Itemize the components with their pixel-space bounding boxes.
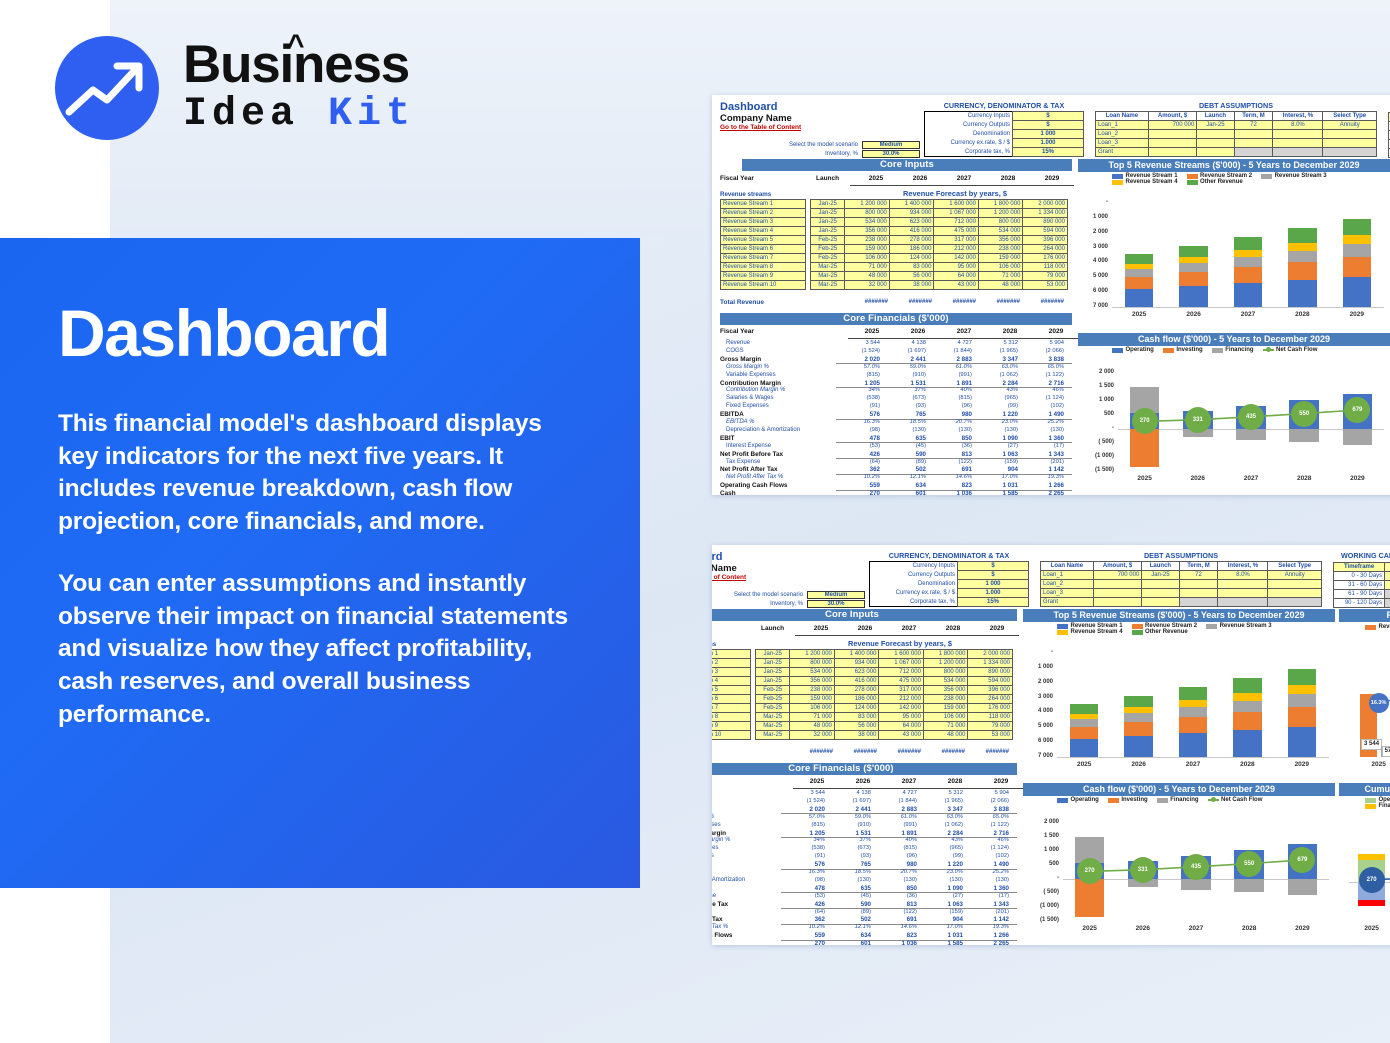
debt-cell[interactable]: Loan_3 (1096, 139, 1149, 148)
stream-value-cell[interactable]: 71 000 (845, 263, 890, 272)
stream-value-cell[interactable]: 278 000 (889, 236, 934, 245)
inventory-label: Inventory, % (770, 601, 803, 607)
stream-value-cell[interactable]: 317 000 (879, 686, 924, 695)
debt-cell[interactable] (1218, 589, 1268, 598)
stream-value-cell[interactable]: 712 000 (934, 218, 979, 227)
stream-value-cell[interactable]: 64 000 (879, 722, 924, 731)
stream-value-cell[interactable]: 48 000 (923, 731, 968, 740)
stream-value-cell[interactable]: 416 000 (889, 227, 934, 236)
stream-value-cell[interactable]: 48 000 (790, 722, 835, 731)
stream-value-cell[interactable]: 118 000 (968, 713, 1013, 722)
stream-value-cell[interactable]: 106 000 (923, 713, 968, 722)
stream-value-cell[interactable]: 71 000 (923, 722, 968, 731)
stream-launch-cell[interactable]: Feb-25 (756, 695, 790, 704)
legend-label: Revenue Stream 4 (1071, 629, 1123, 635)
stream-name-cell[interactable]: Revenue Stream 2 (721, 209, 806, 218)
stream-value-cell[interactable]: 2 000 000 (1023, 200, 1068, 209)
debt-cell[interactable]: Loan_1 (1041, 571, 1094, 580)
stream-value-cell[interactable]: 38 000 (889, 281, 934, 290)
stream-value-cell[interactable]: 1 200 000 (790, 650, 835, 659)
financial-row-value: 65.0% (1022, 364, 1064, 370)
stream-value-cell[interactable]: 356 000 (845, 227, 890, 236)
financial-row-value: 5 904 (1022, 340, 1064, 346)
stream-value-cell[interactable]: 264 000 (968, 695, 1013, 704)
debt-cell[interactable]: 72 (1179, 571, 1218, 580)
debt-cell[interactable] (1234, 139, 1273, 148)
stream-value-cell[interactable]: 475 000 (879, 677, 924, 686)
debt-block: DEBT ASSUMPTIONSLoan NameAmount, $Launch… (1040, 551, 1322, 607)
stream-value-cell[interactable]: 159 000 (923, 704, 968, 713)
table-row: Feb-25238 000278 000317 000356 000396 00… (756, 686, 1013, 695)
debt-cell[interactable]: 700 000 (1093, 571, 1142, 580)
currency-row-value[interactable]: $ (958, 571, 1029, 580)
stream-value-cell[interactable]: 534 000 (923, 677, 968, 686)
legend-item-0: Operating (1112, 347, 1154, 353)
financial-row-value: 559 (783, 932, 825, 939)
revenue-streams-label: Revenue streams (712, 641, 716, 648)
stream-launch-cell[interactable]: Jan-25 (811, 200, 845, 209)
stream-value-cell[interactable]: 106 000 (845, 254, 890, 263)
stream-value-cell[interactable]: 264 000 (1023, 245, 1068, 254)
stream-launch-cell[interactable]: Mar-25 (811, 263, 845, 272)
wc-cell[interactable]: 0% (1385, 590, 1390, 599)
debt-cell[interactable] (1268, 580, 1322, 589)
stream-value-cell[interactable]: 534 000 (845, 218, 890, 227)
bar-revenue-stream-1 (1179, 286, 1207, 307)
financial-row-value: 576 (838, 411, 880, 418)
debt-cell[interactable] (1268, 589, 1322, 598)
debt-cell[interactable]: Annuity (1268, 571, 1322, 580)
bar-revenue-stream-2 (1125, 277, 1153, 289)
financial-row-value: (1 965) (976, 348, 1018, 354)
wc-cell[interactable]: 31 - 60 Days (1334, 581, 1385, 590)
legend-item-2: Financing (1157, 797, 1199, 803)
stream-value-cell[interactable]: 48 000 (978, 281, 1023, 290)
bar-other-revenue (1125, 254, 1153, 264)
dashboard-screenshot-bottom[interactable]: DashboardCompany NameGo to the Table of … (712, 545, 1390, 945)
chart-cash-flow: Cash flow ($'000) - 5 Years to December … (1023, 783, 1335, 941)
stream-value-cell[interactable]: 159 000 (845, 245, 890, 254)
stream-value-cell[interactable]: 623 000 (889, 218, 934, 227)
bar-revenue-stream-3 (1179, 707, 1207, 718)
stream-value-cell[interactable]: 64 000 (934, 272, 979, 281)
currency-row-value[interactable]: 15% (1013, 148, 1084, 157)
currency-row-value[interactable]: 15% (958, 598, 1029, 607)
y-axis-label: ( 500) (1023, 889, 1059, 895)
debt-cell[interactable] (1323, 148, 1377, 157)
debt-cell[interactable]: Grant (1096, 148, 1149, 157)
stream-name-cell[interactable]: Revenue Stream 5 (721, 236, 806, 245)
wc-cell[interactable]: 40% (1385, 581, 1390, 590)
financial-row-value: (98) (838, 427, 880, 433)
financial-row-value: 3 838 (967, 806, 1009, 813)
currency-row-value[interactable]: $ (1013, 112, 1084, 121)
stream-value-cell[interactable]: 142 000 (879, 704, 924, 713)
currency-row-value[interactable]: $ (958, 562, 1029, 571)
financial-row-value: (965) (976, 395, 1018, 401)
legend-label: Investing (1176, 347, 1202, 353)
stream-value-cell[interactable]: 2 000 000 (968, 650, 1013, 659)
stream-launch-cell[interactable]: Jan-25 (756, 668, 790, 677)
stream-value-cell[interactable]: 53 000 (1023, 281, 1068, 290)
stream-value-cell[interactable]: 356 000 (923, 686, 968, 695)
stream-value-cell[interactable]: 396 000 (1023, 236, 1068, 245)
stream-value-cell[interactable]: 396 000 (968, 686, 1013, 695)
stream-value-cell[interactable]: 186 000 (834, 695, 879, 704)
stream-launch-cell[interactable]: Mar-25 (811, 272, 845, 281)
stream-value-cell[interactable]: 534 000 (978, 227, 1023, 236)
stream-name-cell[interactable]: Revenue Stream 4 (712, 677, 751, 686)
stream-value-cell[interactable]: 475 000 (934, 227, 979, 236)
currency-row-value[interactable]: 1 000 (958, 580, 1029, 589)
stream-value-cell[interactable]: 79 000 (1023, 272, 1068, 281)
currency-row-value[interactable]: $ (1013, 121, 1084, 130)
financial-row-value: (815) (875, 845, 917, 851)
table-row: Revenue Stream 5 (712, 686, 751, 695)
financial-row-value: 2 020 (783, 806, 825, 813)
stream-launch-cell[interactable]: Jan-25 (756, 650, 790, 659)
stream-launch-cell[interactable]: Jan-25 (811, 209, 845, 218)
table-row: Revenue Stream 3 (712, 668, 751, 677)
debt-cell[interactable]: Loan_1 (1096, 121, 1149, 130)
stream-value-cell[interactable]: 142 000 (934, 254, 979, 263)
debt-cell[interactable] (1197, 148, 1234, 157)
bar-investing (1075, 879, 1105, 917)
stream-name-cell[interactable]: Revenue Stream 7 (721, 254, 806, 263)
currency-row-label: Corporate tax, % (870, 598, 958, 607)
stream-value-cell[interactable]: 83 000 (834, 713, 879, 722)
legend-swatch (1157, 798, 1168, 803)
financial-row-value: 1 360 (967, 885, 1009, 892)
stream-value-cell[interactable]: 186 000 (889, 245, 934, 254)
stream-value-cell[interactable]: 1 334 000 (1023, 209, 1068, 218)
table-row: Jan-25800 000934 0001 067 0001 200 0001 … (756, 659, 1013, 668)
stream-value-cell[interactable]: 594 000 (968, 677, 1013, 686)
financial-row-value: (1 965) (921, 798, 963, 804)
x-axis-label: 2029 (1335, 311, 1379, 318)
stream-launch-cell[interactable]: Feb-25 (811, 245, 845, 254)
wc-cell[interactable]: 90 - 120 Days (1334, 599, 1385, 608)
debt-cell[interactable]: 8.0% (1218, 571, 1268, 580)
stream-value-cell[interactable]: 800 000 (845, 209, 890, 218)
stream-value-cell[interactable]: 238 000 (923, 695, 968, 704)
financial-row-value: (1 062) (976, 372, 1018, 378)
scenario-value[interactable]: Medium (807, 591, 865, 599)
stream-name-cell[interactable]: Revenue Stream 9 (712, 722, 751, 731)
stream-value-cell[interactable]: 95 000 (934, 263, 979, 272)
debt-cell[interactable] (1197, 130, 1234, 139)
stream-value-cell[interactable]: 212 000 (934, 245, 979, 254)
legend-swatch (1132, 624, 1143, 629)
debt-cell[interactable] (1148, 130, 1197, 139)
currency-row-label: Currency Inputs (925, 112, 1013, 121)
debt-cell[interactable] (1093, 580, 1142, 589)
inventory-value[interactable]: 30.0% (807, 600, 865, 608)
table-of-content-link[interactable]: Go to the Table of Content (720, 124, 920, 131)
legend-item-3: Financing (1365, 803, 1390, 809)
stream-value-cell[interactable]: 48 000 (845, 272, 890, 281)
stream-value-cell[interactable]: 1 200 000 (978, 209, 1023, 218)
stream-launch-cell[interactable]: Feb-25 (811, 236, 845, 245)
debt-cell[interactable] (1234, 148, 1273, 157)
stream-value-cell[interactable]: 159 000 (790, 695, 835, 704)
stream-value-cell[interactable]: 534 000 (790, 668, 835, 677)
stream-value-cell[interactable]: 1 800 000 (923, 650, 968, 659)
stream-value-cell[interactable]: 71 000 (790, 713, 835, 722)
debt-cell[interactable]: 700 000 (1148, 121, 1197, 130)
bar-revenue-stream-3 (1124, 713, 1152, 722)
stream-value-cell[interactable]: 1 200 000 (845, 200, 890, 209)
stream-value-cell[interactable]: 32 000 (790, 731, 835, 740)
stream-value-cell[interactable]: 1 800 000 (978, 200, 1023, 209)
year-rule (795, 635, 1019, 636)
stream-name-cell[interactable]: Revenue Stream 8 (721, 263, 806, 272)
stream-value-cell[interactable]: 623 000 (834, 668, 879, 677)
wc-cell[interactable]: 61 - 90 Days (1334, 590, 1385, 599)
stream-name-cell[interactable]: Revenue Stream 3 (721, 218, 806, 227)
stream-name-cell[interactable]: Revenue Stream 2 (712, 659, 751, 668)
financial-row-value: (130) (829, 877, 871, 883)
stream-value-cell[interactable]: 159 000 (978, 254, 1023, 263)
stream-value-cell[interactable]: 934 000 (834, 659, 879, 668)
stream-value-cell[interactable]: 356 000 (790, 677, 835, 686)
stream-name-cell[interactable]: Revenue Stream 3 (712, 668, 751, 677)
debt-column-header: Interest, % (1273, 112, 1323, 121)
stream-value-cell[interactable]: 212 000 (879, 695, 924, 704)
debt-cell[interactable]: Loan_3 (1041, 589, 1094, 598)
stream-launch-cell[interactable]: Mar-25 (811, 281, 845, 290)
debt-cell[interactable] (1179, 598, 1218, 607)
stream-name-cell[interactable]: Revenue Stream 10 (712, 731, 751, 740)
stream-value-cell[interactable]: 56 000 (889, 272, 934, 281)
stream-value-cell[interactable]: 1 400 000 (834, 650, 879, 659)
scenario-label: Select the model scenario (789, 142, 858, 148)
stream-value-cell[interactable]: 43 000 (934, 281, 979, 290)
debt-cell[interactable] (1179, 589, 1218, 598)
stream-value-cell[interactable]: 594 000 (1023, 227, 1068, 236)
stream-value-cell[interactable]: 43 000 (879, 731, 924, 740)
stream-launch-cell[interactable]: Feb-25 (756, 686, 790, 695)
stream-name-cell[interactable]: Revenue Stream 8 (712, 713, 751, 722)
y-axis-label: 2 000 (1080, 229, 1108, 235)
currency-row-value[interactable]: 1.000 (1013, 139, 1084, 148)
currency-row-value[interactable]: 1 000 (1013, 130, 1084, 139)
wc-cell[interactable]: 0 - 30 Days (1334, 572, 1385, 581)
legend-label: Revenue Stream 3 (1220, 623, 1272, 629)
stream-value-cell[interactable]: 800 000 (978, 218, 1023, 227)
stream-name-cell[interactable]: Revenue Stream 1 (712, 650, 751, 659)
stream-value-cell[interactable]: 176 000 (1023, 254, 1068, 263)
stream-value-cell[interactable]: 118 000 (1023, 263, 1068, 272)
stream-value-cell[interactable]: 317 000 (934, 236, 979, 245)
stream-value-cell[interactable]: 800 000 (923, 668, 968, 677)
financial-row-value: 37% (829, 837, 871, 843)
stream-value-cell[interactable]: 1 600 000 (934, 200, 979, 209)
stream-value-cell[interactable]: 56 000 (834, 722, 879, 731)
stream-name-cell[interactable]: Revenue Stream 7 (712, 704, 751, 713)
stream-name-cell[interactable]: Revenue Stream 5 (712, 686, 751, 695)
stream-value-cell[interactable]: 95 000 (879, 713, 924, 722)
stream-name-cell[interactable]: Revenue Stream 6 (712, 695, 751, 704)
debt-cell[interactable]: 72 (1234, 121, 1273, 130)
stream-value-cell[interactable]: 1 400 000 (889, 200, 934, 209)
financial-row-label: Gross Margin (720, 356, 761, 363)
debt-cell[interactable] (1273, 130, 1323, 139)
stream-name-cell[interactable]: Revenue Stream 9 (721, 272, 806, 281)
year-header-2028: 2028 (933, 625, 973, 632)
debt-cell[interactable] (1093, 598, 1142, 607)
debt-cell[interactable]: Jan-25 (1142, 571, 1179, 580)
stream-value-cell[interactable]: 83 000 (889, 263, 934, 272)
financial-row-value: 5 312 (921, 790, 963, 796)
stream-value-cell[interactable]: 278 000 (834, 686, 879, 695)
debt-cell[interactable] (1234, 130, 1273, 139)
stream-value-cell[interactable]: 712 000 (879, 668, 924, 677)
stream-launch-cell[interactable]: Jan-25 (756, 677, 790, 686)
stream-name-cell[interactable]: Revenue Stream 6 (721, 245, 806, 254)
stream-value-cell[interactable]: 106 000 (978, 263, 1023, 272)
stream-name-cell[interactable]: Revenue Stream 10 (721, 281, 806, 290)
debt-cell[interactable] (1273, 139, 1323, 148)
y-axis-label: - (1078, 425, 1114, 431)
debt-cell[interactable] (1218, 598, 1268, 607)
total-revenue-value: ####### (793, 749, 833, 755)
scenario-value[interactable]: Medium (862, 141, 920, 149)
debt-cell[interactable] (1268, 598, 1322, 607)
stream-value-cell[interactable]: 53 000 (968, 731, 1013, 740)
debt-cell[interactable]: Annuity (1323, 121, 1377, 130)
debt-cell[interactable] (1323, 130, 1377, 139)
year-rule (793, 788, 1023, 789)
chart-revenue-streams: Top 5 Revenue Streams ($'000) - 5 Years … (1078, 159, 1390, 327)
debt-cell[interactable] (1093, 589, 1142, 598)
year-header-2028: 2028 (990, 328, 1030, 335)
stream-value-cell[interactable]: 106 000 (790, 704, 835, 713)
total-revenue-value: ####### (936, 299, 976, 305)
stream-name-cell[interactable]: Revenue Stream 4 (721, 227, 806, 236)
financial-row-value: (815) (930, 395, 972, 401)
inventory-value[interactable]: 30.0% (862, 150, 920, 158)
stream-value-cell[interactable]: 800 000 (790, 659, 835, 668)
stream-value-cell[interactable]: 1 334 000 (968, 659, 1013, 668)
debt-cell[interactable] (1142, 580, 1179, 589)
financial-row-label: Fixed Expenses (726, 403, 769, 409)
stream-launch-cell[interactable]: Feb-25 (811, 254, 845, 263)
debt-table: Loan NameAmount, $LaunchTerm, MInterest,… (1095, 111, 1377, 157)
debt-cell[interactable]: Loan_2 (1041, 580, 1094, 589)
financial-row-value: (815) (783, 822, 825, 828)
debt-cell[interactable]: 8.0% (1273, 121, 1323, 130)
legend-swatch (1365, 798, 1376, 803)
stream-value-cell[interactable]: 890 000 (968, 668, 1013, 677)
stream-launch-cell[interactable]: Mar-25 (756, 731, 790, 740)
debt-cell[interactable] (1323, 139, 1377, 148)
bar-revenue-stream-4 (1234, 250, 1262, 257)
bar-other-revenue (1179, 687, 1207, 700)
legend-swatch (1057, 630, 1068, 635)
stream-launch-cell[interactable]: Feb-25 (756, 704, 790, 713)
bar-revenue-stream-1 (1124, 736, 1152, 757)
financial-row-value: (1 697) (884, 348, 926, 354)
debt-cell[interactable] (1179, 580, 1218, 589)
stream-value-cell[interactable]: 176 000 (968, 704, 1013, 713)
debt-cell[interactable]: Jan-25 (1197, 121, 1234, 130)
financial-row-value: 2 284 (921, 830, 963, 837)
debt-cell[interactable] (1197, 139, 1234, 148)
core-inputs-band: Core Inputs (712, 609, 1017, 621)
stream-value-cell[interactable]: 38 000 (834, 731, 879, 740)
debt-cell[interactable] (1218, 580, 1268, 589)
stream-value-cell[interactable]: 890 000 (1023, 218, 1068, 227)
stream-value-cell[interactable]: 416 000 (834, 677, 879, 686)
financial-row-value: 2 716 (1022, 380, 1064, 387)
debt-cell[interactable] (1148, 139, 1197, 148)
stream-value-cell[interactable]: 934 000 (889, 209, 934, 218)
stream-value-cell[interactable]: 356 000 (978, 236, 1023, 245)
currency-row-value[interactable]: 1.000 (958, 589, 1029, 598)
y-axis-label: 3 000 (1025, 694, 1053, 700)
dashboard-screenshot-top[interactable]: DashboardCompany NameGo to the Table of … (712, 95, 1390, 495)
financial-row-value: (96) (875, 853, 917, 859)
stream-value-cell[interactable]: 124 000 (834, 704, 879, 713)
stream-value-cell[interactable]: 71 000 (978, 272, 1023, 281)
stream-value-cell[interactable]: 1 200 000 (923, 659, 968, 668)
financial-row-value: (673) (884, 395, 926, 401)
table-row: Feb-25159 000186 000212 000238 000264 00… (756, 695, 1013, 704)
debt-cell[interactable] (1273, 148, 1323, 157)
bar-revenue-stream-2 (1124, 722, 1152, 736)
stream-value-cell[interactable]: 238 000 (845, 236, 890, 245)
currency-block: CURRENCY, DENOMINATOR & TAXCurrency Inpu… (924, 101, 1084, 157)
bar-financing (1289, 429, 1319, 442)
stream-value-cell[interactable]: 79 000 (968, 722, 1013, 731)
stream-launch-cell[interactable]: Jan-25 (811, 227, 845, 236)
data-bubble-2026: 331 (1130, 857, 1156, 883)
financial-row-value: 362 (783, 916, 825, 923)
stream-launch-cell[interactable]: Jan-25 (811, 218, 845, 227)
stream-value-cell[interactable]: 1 600 000 (879, 650, 924, 659)
debt-cell[interactable] (1142, 598, 1179, 607)
debt-header-row: Loan NameAmount, $LaunchTerm, MInterest,… (1096, 112, 1377, 121)
bar-revenue-stream-4 (1070, 714, 1098, 719)
debt-cell[interactable] (1148, 148, 1197, 157)
currency-row-label: Currency Inputs (870, 562, 958, 571)
stream-launch-cell[interactable]: Jan-25 (756, 659, 790, 668)
debt-cell[interactable]: Grant (1041, 598, 1094, 607)
y-axis-label: 500 (1023, 861, 1059, 867)
stream-value-cell[interactable]: 124 000 (889, 254, 934, 263)
debt-cell[interactable] (1142, 589, 1179, 598)
stream-value-cell[interactable]: 1 067 000 (934, 209, 979, 218)
financial-row-value: (130) (1022, 427, 1064, 433)
financial-row-value: (53) (838, 443, 880, 449)
table-of-content-link[interactable]: Go to the Table of Content (712, 574, 865, 581)
financial-row-value: 1 031 (921, 932, 963, 939)
stream-value-cell[interactable]: 1 067 000 (879, 659, 924, 668)
debt-cell[interactable]: Loan_2 (1096, 130, 1149, 139)
financial-row-value: (130) (884, 427, 926, 433)
stream-launch-cell[interactable]: Mar-25 (756, 722, 790, 731)
table-row: Revenue Stream 6 (712, 695, 751, 704)
wc-cell[interactable]: 0% (1385, 599, 1390, 608)
wc-cell[interactable]: 60% (1385, 572, 1390, 581)
stream-launch-cell[interactable]: Mar-25 (756, 713, 790, 722)
stream-value-cell[interactable]: 32 000 (845, 281, 890, 290)
stream-value-cell[interactable]: 238 000 (978, 245, 1023, 254)
table-row: Mar-2532 00038 00043 00048 00053 000 (811, 281, 1068, 290)
stream-value-cell[interactable]: 238 000 (790, 686, 835, 695)
stream-name-cell[interactable]: Revenue Stream 1 (721, 200, 806, 209)
